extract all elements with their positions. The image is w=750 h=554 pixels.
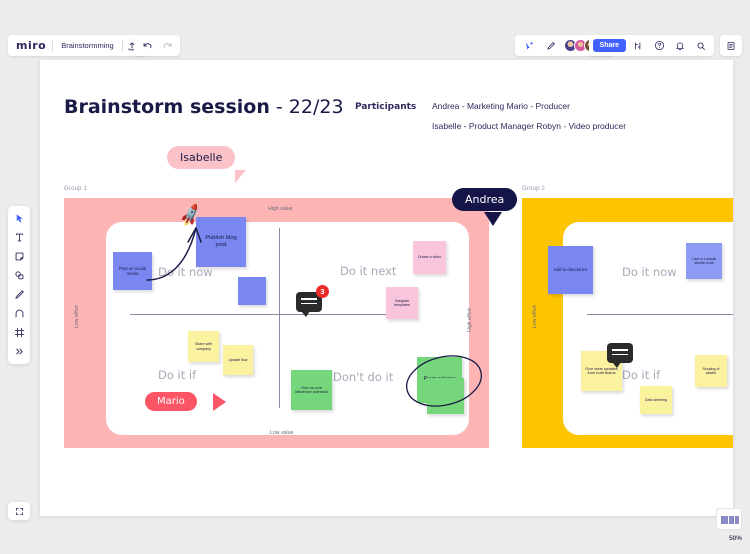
cursor-pointer-isabelle — [235, 170, 246, 183]
axis-label-low-effort-2: Low effort — [532, 305, 538, 328]
sticky-note[interactable] — [238, 277, 266, 305]
quadrant-dont-do-it: Don't do it — [333, 370, 393, 384]
left-toolbar — [8, 206, 30, 364]
quadrant-do-it-if-2: Do it if — [622, 368, 660, 382]
cursor-pointer-mario — [213, 393, 226, 411]
sticky-note[interactable]: Update flow — [223, 345, 253, 375]
miro-board-app: miro Brainstormming — [0, 0, 750, 554]
sticky-note[interactable]: Integrate templates — [386, 287, 418, 319]
top-toolbar: miro Brainstormming — [0, 0, 750, 62]
pen-tool[interactable] — [10, 286, 28, 303]
participants-line: Andrea - Marketing Mario - Producer — [432, 101, 626, 111]
redo-icon[interactable] — [158, 37, 176, 55]
group2-label: Group 2 — [522, 186, 545, 192]
group1-x-axis — [130, 314, 410, 315]
sticky-note[interactable]: Share with company — [188, 331, 219, 362]
minimap[interactable] — [716, 508, 742, 530]
sticky-note[interactable]: Scoping of assets — [695, 355, 727, 387]
share-button[interactable]: Share — [593, 39, 626, 52]
curved-arrow — [144, 222, 210, 284]
participants-label: Participants — [355, 102, 416, 112]
cursor-share-icon[interactable] — [520, 37, 538, 55]
axis-label-high-effort: High effort — [467, 308, 473, 332]
group2-x-axis — [587, 314, 733, 315]
notes-panel-group — [720, 35, 742, 56]
quadrant-do-it-now-2: Do it now — [622, 265, 677, 279]
page-title: Brainstorm session - 22/23 — [64, 96, 344, 118]
shapes-tool[interactable] — [10, 267, 28, 284]
search-icon[interactable] — [692, 37, 710, 55]
sticky-note[interactable]: One-on-one influencer outreach — [291, 370, 332, 410]
cursor-label-mario: Mario — [145, 392, 197, 411]
sticky-note[interactable]: Data sheeting — [640, 386, 672, 414]
miro-logo[interactable]: miro — [14, 39, 52, 52]
cursor-label-isabelle: Isabelle — [167, 146, 235, 169]
fit-to-screen-button[interactable] — [8, 502, 30, 520]
sticky-note[interactable]: I am a x-small stickie note — [686, 243, 722, 279]
cursor-label-andrea: Andrea — [452, 188, 517, 211]
pen-icon[interactable] — [542, 37, 560, 55]
group1-y-axis — [279, 228, 280, 408]
notes-panel-icon[interactable] — [722, 37, 740, 55]
group1-label: Group 1 — [64, 186, 87, 192]
sticky-note[interactable]: Create a video — [413, 241, 446, 274]
participants-list: Andrea - Marketing Mario - Producer Isab… — [432, 101, 626, 141]
connector-tool[interactable] — [10, 305, 28, 322]
board-name[interactable]: Brainstormming — [53, 41, 122, 50]
title-rest: - 22/23 — [270, 96, 344, 118]
board-title-group: miro Brainstormming — [8, 35, 147, 56]
sticky-note-tool[interactable] — [10, 248, 28, 265]
axis-label-high-value: High value — [268, 206, 293, 212]
undo-icon[interactable] — [138, 37, 156, 55]
comment-count-badge: 3 — [316, 285, 329, 298]
comment-bubble[interactable]: 3 — [296, 292, 322, 312]
sticky-note[interactable]: Add to directories — [548, 246, 593, 294]
select-tool[interactable] — [10, 210, 28, 227]
participants-line: Isabelle - Product Manager Robyn - Video… — [432, 121, 626, 131]
more-tools[interactable] — [10, 343, 28, 360]
cursor-pointer-andrea — [484, 212, 502, 226]
axis-label-low-value: Low value — [270, 430, 293, 436]
quadrant-do-it-next: Do it next — [340, 264, 396, 278]
title-bold: Brainstorm session — [64, 96, 270, 118]
frame-tool[interactable] — [10, 324, 28, 341]
comment-bubble[interactable] — [607, 343, 633, 363]
zoom-level[interactable]: 50% — [729, 535, 742, 542]
hand-drawn-ellipse — [402, 343, 484, 419]
undo-redo-group — [134, 35, 180, 56]
help-icon[interactable] — [650, 37, 668, 55]
filter-icon[interactable] — [629, 37, 647, 55]
actions-group: Share — [589, 35, 714, 56]
axis-label-low-effort: Low effort — [74, 305, 80, 328]
bell-icon[interactable] — [671, 37, 689, 55]
quadrant-do-it-if: Do it if — [158, 368, 196, 382]
text-tool[interactable] — [10, 229, 28, 246]
board-canvas[interactable]: Brainstorm session - 22/23 Participants … — [40, 60, 733, 516]
